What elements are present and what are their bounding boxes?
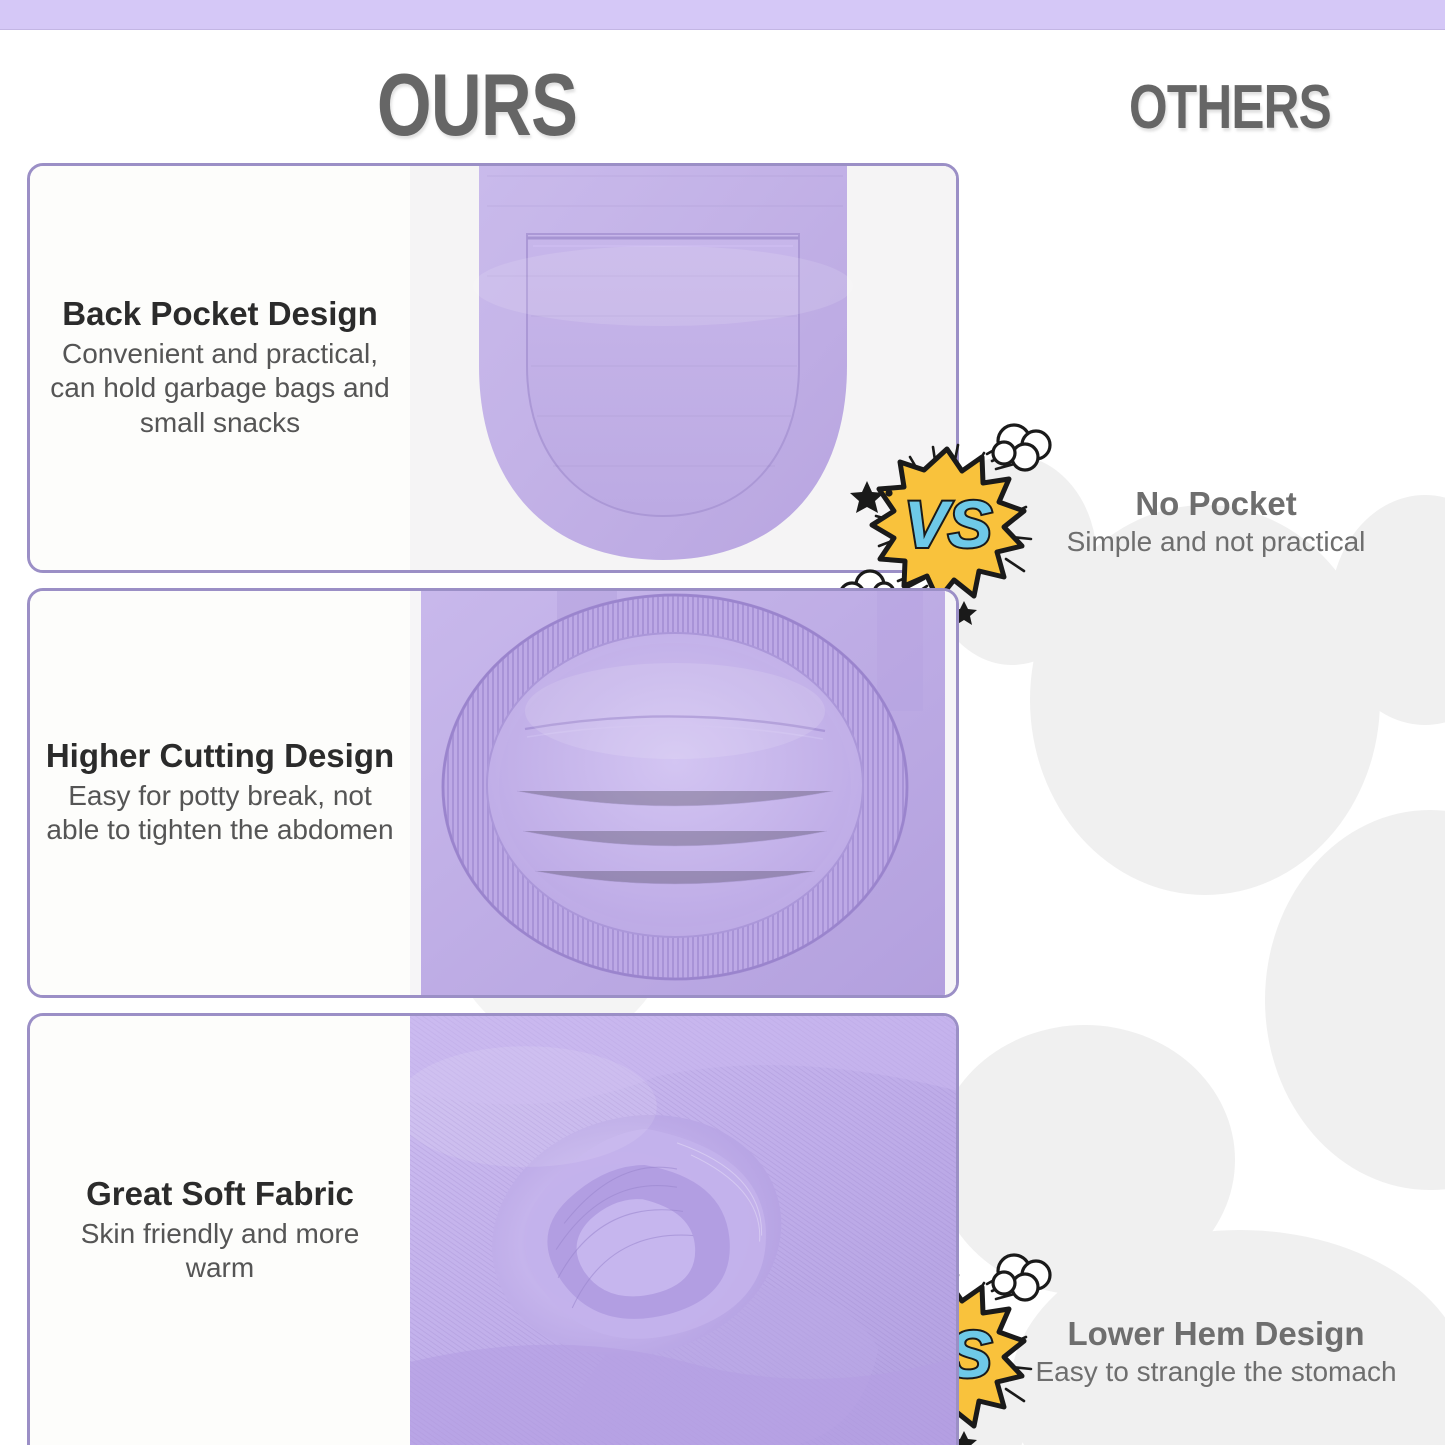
column-header-ours: OURS <box>265 54 689 156</box>
vs-badge-label: VS <box>904 487 992 561</box>
ours-text-back-pocket: Back Pocket Design Convenient and practi… <box>30 166 410 570</box>
comparison-row-soft-fabric: Great Soft Fabric Skin friendly and more… <box>0 1013 1445 1445</box>
comparison-row-higher-cutting: Higher Cutting Design Easy for potty bre… <box>0 588 1445 998</box>
ours-text-soft-fabric: Great Soft Fabric Skin friendly and more… <box>30 1016 410 1445</box>
ours-title: Great Soft Fabric <box>86 1176 354 1213</box>
ours-description: Convenient and practical, can hold garba… <box>44 337 396 439</box>
ours-card-higher-cutting: Higher Cutting Design Easy for potty bre… <box>27 588 959 998</box>
ours-card-back-pocket: Back Pocket Design Convenient and practi… <box>27 163 959 573</box>
ours-text-higher-cutting: Higher Cutting Design Easy for potty bre… <box>30 591 410 995</box>
ours-description: Skin friendly and more warm <box>44 1217 396 1285</box>
ours-card-soft-fabric: Great Soft Fabric Skin friendly and more… <box>27 1013 959 1445</box>
column-header-others: OTHERS <box>1046 72 1414 143</box>
comparison-row-back-pocket: Back Pocket Design Convenient and practi… <box>0 163 1445 573</box>
ours-description: Easy for potty break, not able to tighte… <box>44 779 396 847</box>
pet-hoodie-ribbed-hem-photo <box>410 591 956 995</box>
top-accent-bar <box>0 0 1445 30</box>
soft-fabric-swirl-photo <box>410 1016 956 1445</box>
others-title: No Pocket <box>1006 485 1426 523</box>
others-description: Simple and not practical <box>1006 525 1426 559</box>
ours-title: Higher Cutting Design <box>46 738 394 775</box>
others-text-no-pocket: No Pocket Simple and not practical <box>1006 485 1426 558</box>
ours-title: Back Pocket Design <box>62 296 377 333</box>
